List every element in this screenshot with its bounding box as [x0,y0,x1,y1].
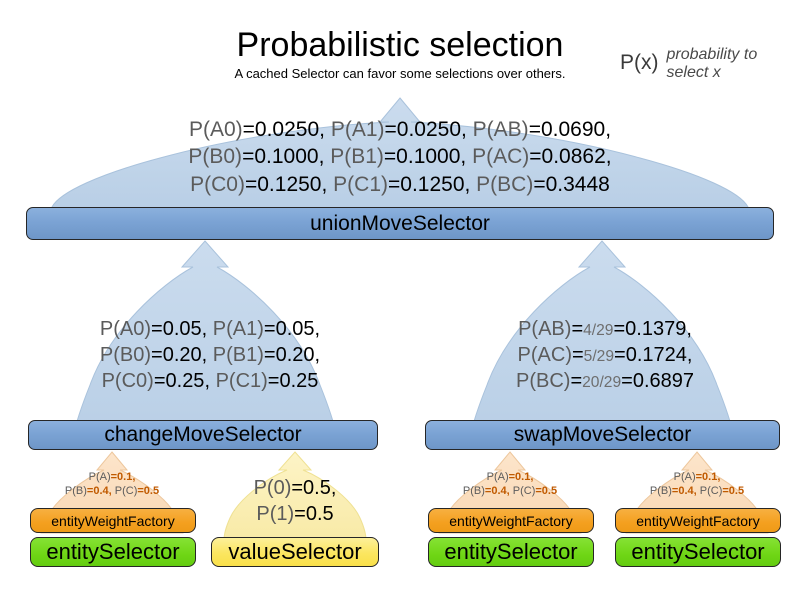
probability-label: P(1) [256,503,294,525]
probability-line: P(A)=0.1, [34,470,190,484]
change-move-selector-box[interactable]: changeMoveSelector [28,420,378,450]
probability-label: P(AB) [473,118,529,141]
probability-separator: , [315,344,321,366]
probability-separator: , [606,145,612,168]
probability-line: P(B)=0.4, P(C)=0.5 [619,484,775,498]
probability-value-decimal: =0.6897 [621,370,694,392]
probability-separator: , [717,471,720,483]
probability-value: =0.20 [264,344,315,366]
probability-value: =0.0690 [529,118,606,141]
probability-label: P(A) [487,471,509,483]
probability-line: P(A0)=0.05, P(A1)=0.05, [45,316,375,342]
legend-description: probability to select x [667,46,796,83]
probability-separator: , [319,145,331,168]
probability-line: P(B0)=0.1000, P(B1)=0.1000, P(AC)=0.0862… [80,143,720,170]
probability-value: =0.1250 [388,173,465,196]
probability-separator: , [132,471,135,483]
entity-group-1-probabilities: P(A)=0.1,P(B)=0.4, P(C)=0.5 [34,470,190,499]
probability-line: P(0)=0.5, [215,475,375,501]
probability-value: = [572,344,584,366]
probability-label: P(A) [674,471,696,483]
probability-line: P(B)=0.4, P(C)=0.5 [432,484,588,498]
probability-label: P(C) [513,485,536,497]
probability-line: P(AB)=4/29=0.1379, [440,316,770,342]
probability-value: =0.5 [137,485,159,497]
probability-fraction: 4/29 [583,322,613,339]
probability-value: =0.1000 [242,145,319,168]
legend: P(x) probability to select x [620,46,795,83]
probability-line: P(BC)=20/29=0.6897 [440,368,770,394]
probability-separator: , [202,318,213,340]
probability-label: P(C1) [216,370,268,392]
probability-value: =0.20 [151,344,202,366]
probability-value-decimal: =0.1379 [613,318,686,340]
change-move-probabilities: P(A0)=0.05, P(A1)=0.05,P(B0)=0.20, P(B1)… [45,316,375,394]
probability-label: P(A) [89,471,111,483]
probability-separator: , [461,118,473,141]
probability-value: =0.3448 [533,173,610,196]
probability-value: =0.0250 [243,118,320,141]
probability-label: P(BC) [476,173,533,196]
probability-label: P(B) [65,485,87,497]
probability-value: =0.1 [696,471,718,483]
probability-label: P(A0) [100,318,151,340]
entity-group-3-probabilities: P(A)=0.1,P(B)=0.4, P(C)=0.5 [619,470,775,499]
probability-label: P(A0) [189,118,243,141]
probability-separator: , [605,118,611,141]
probability-value: =0.0862 [529,145,606,168]
probability-label: P(C0) [102,370,154,392]
probability-separator: , [331,477,337,499]
swap-move-selector-box[interactable]: swapMoveSelector [425,420,780,450]
entity-weight-factory-box-1[interactable]: entityWeightFactory [30,508,196,533]
probability-label: P(B) [463,485,485,497]
probability-separator: , [202,344,213,366]
probability-separator: , [315,318,321,340]
probability-line: P(C0)=0.1250, P(C1)=0.1250, P(BC)=0.3448 [80,171,720,198]
probability-label: P(C) [700,485,723,497]
probability-value: =0.1 [111,471,133,483]
probability-value: =0.1000 [384,145,461,168]
probability-fraction: 20/29 [582,374,621,391]
probability-label: P(B1) [213,344,264,366]
probability-line: P(C0)=0.25, P(C1)=0.25 [45,368,375,394]
entity-selector-box-1[interactable]: entitySelector [30,537,196,567]
probability-value: =0.5 [722,485,744,497]
probability-label: P(B1) [330,145,384,168]
probability-line: P(A0)=0.0250, P(A1)=0.0250, P(AB)=0.0690… [80,116,720,143]
probability-label: P(A1) [213,318,264,340]
probability-separator: , [530,471,533,483]
probability-separator: , [465,173,477,196]
diagram-canvas: Probabilistic selection A cached Selecto… [0,0,800,600]
probability-value: =0.05 [264,318,315,340]
entity-group-2-probabilities: P(A)=0.1,P(B)=0.4, P(C)=0.5 [432,470,588,499]
probability-separator: , [687,344,693,366]
probability-label: P(A1) [331,118,385,141]
probability-separator: , [686,318,692,340]
swap-move-probabilities: P(AB)=4/29=0.1379,P(AC)=5/29=0.1724,P(BC… [440,316,770,394]
probability-value: = [570,370,582,392]
probability-label: P(C) [115,485,138,497]
probability-separator: , [460,145,472,168]
probability-label: P(AB) [518,318,571,340]
probability-value: =0.5 [535,485,557,497]
probability-label: P(B0) [188,145,242,168]
probability-line: P(AC)=5/29=0.1724, [440,342,770,368]
probability-label: P(C0) [190,173,245,196]
probability-line: P(A)=0.1, [619,470,775,484]
entity-weight-factory-box-3[interactable]: entityWeightFactory [615,508,781,533]
probability-value: =0.4 [672,485,694,497]
probability-label: P(AC) [518,344,572,366]
union-move-selector-box[interactable]: unionMoveSelector [26,207,774,240]
probability-label: P(AC) [472,145,529,168]
probability-value: =0.25 [268,370,319,392]
union-probabilities: P(A0)=0.0250, P(A1)=0.0250, P(AB)=0.0690… [80,116,720,198]
probability-value: =0.5 [291,477,330,499]
probability-label: P(C1) [333,173,388,196]
entity-selector-box-2[interactable]: entitySelector [428,537,594,567]
probability-fraction: 5/29 [584,348,614,365]
probability-line: P(B)=0.4, P(C)=0.5 [34,484,190,498]
probability-label: P(B) [650,485,672,497]
value-selector-probabilities: P(0)=0.5,P(1)=0.5 [215,475,375,527]
value-selector-box[interactable]: valueSelector [211,537,379,567]
probability-line: P(B0)=0.20, P(B1)=0.20, [45,342,375,368]
probability-label: P(B0) [100,344,151,366]
entity-weight-factory-box-2[interactable]: entityWeightFactory [428,508,594,533]
probability-value: =0.1 [509,471,531,483]
probability-value: =0.1250 [245,173,322,196]
probability-value: =0.4 [87,485,109,497]
probability-value: =0.05 [151,318,202,340]
probability-value: =0.4 [485,485,507,497]
probability-value-decimal: =0.1724 [614,344,687,366]
probability-line: P(1)=0.5 [215,501,375,527]
probability-separator: , [204,370,215,392]
probability-label: P(0) [254,477,292,499]
probability-value: = [571,318,583,340]
probability-separator: , [321,173,333,196]
probability-label: P(BC) [516,370,570,392]
probability-value: =0.25 [154,370,205,392]
probability-value: =0.5 [294,503,333,525]
probability-line: P(A)=0.1, [432,470,588,484]
entity-selector-box-3[interactable]: entitySelector [615,537,781,567]
legend-key: P(x) [620,46,659,75]
probability-separator: , [319,118,331,141]
probability-value: =0.0250 [385,118,462,141]
